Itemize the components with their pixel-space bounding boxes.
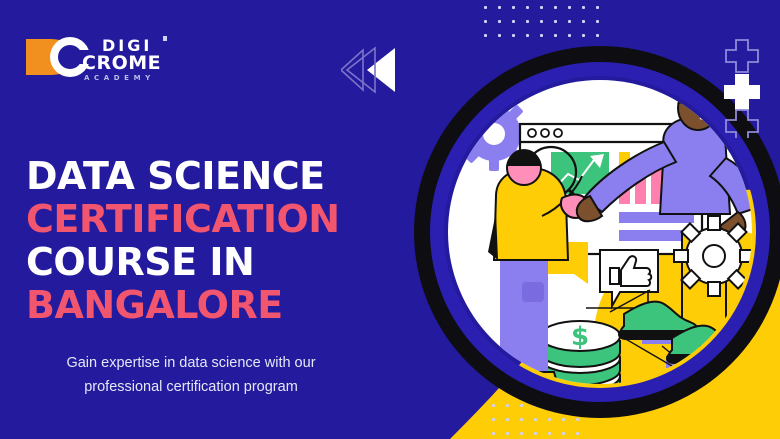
headline-line-1: DATA SCIENCE — [26, 155, 426, 198]
svg-text:$: $ — [571, 322, 589, 352]
double-chevron-left-icon — [341, 44, 397, 96]
plus-marks-decoration — [724, 38, 760, 138]
headline-line-3: COURSE IN — [26, 241, 426, 284]
subtitle-line-2: professional certification program — [26, 375, 356, 399]
brand-logo[interactable]: DIGI CROME ACADEMY — [24, 31, 174, 83]
subtitle: Gain expertise in data science with our … — [26, 351, 356, 399]
subtitle-line-1: Gain expertise in data science with our — [26, 351, 356, 375]
headline-line-4: BANGALORE — [26, 284, 426, 327]
logo-word-main: CROME — [82, 52, 161, 74]
promo-banner: $ — [0, 0, 780, 439]
headline-line-2: CERTIFICATION — [26, 198, 426, 241]
logo-word-sub: ACADEMY — [84, 74, 155, 82]
page-title: DATA SCIENCE CERTIFICATION COURSE IN BAN… — [26, 155, 426, 327]
